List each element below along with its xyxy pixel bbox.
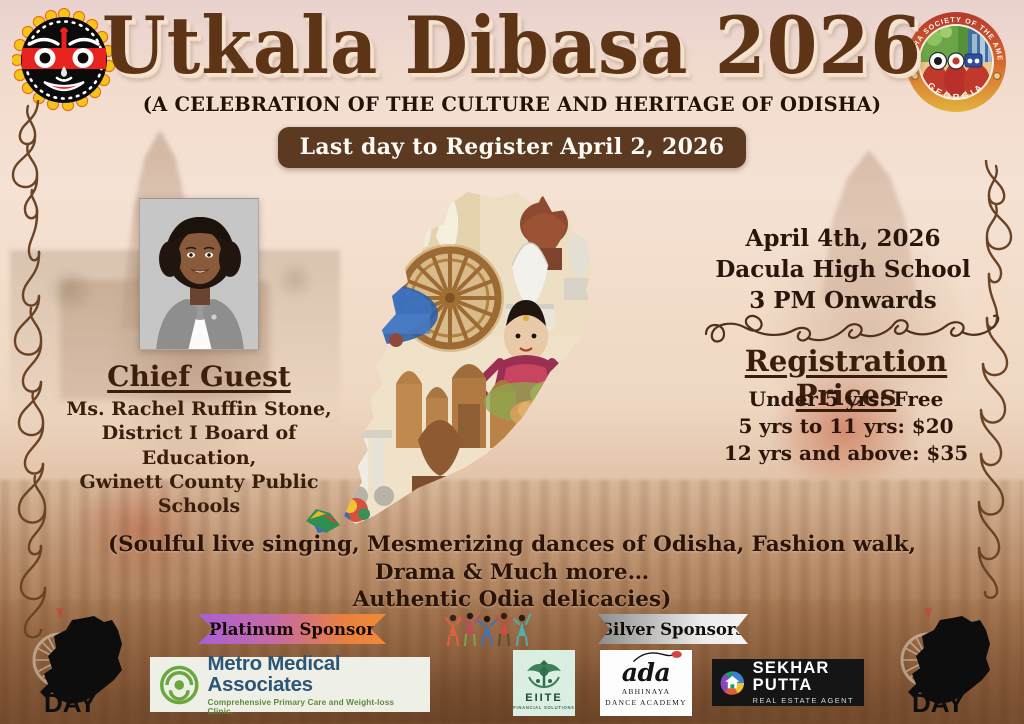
chief-guest-photo [139,198,259,350]
chief-guest-org: Gwinett County Public Schools [54,470,344,519]
silver-sponsors-ribbon: Silver Sponsors [598,614,748,644]
sekhar-putta-house-mark-icon [720,666,745,700]
registration-deadline-banner: Last day to Register April 2, 2026 [278,127,747,168]
odisha-day-logo-left: O D I S HA DAY [26,604,130,716]
metro-medical-mark-icon [160,663,199,707]
metro-medical-name: Metro Medical Associates [208,654,420,695]
ada-flourish-icon [622,651,692,663]
event-poster: THE ODISHA SOCIETY OF THE AMERICAS GEORG… [0,0,1024,724]
chief-guest-role: District I Board of Education, [54,421,344,470]
title-block: Utkala Dibasa 2026 (A CELEBRATION OF THE… [0,12,1024,168]
event-date: April 4th, 2026 [698,224,988,255]
eiite-mark-icon [521,657,567,691]
registration-prices-list: Under 5 yrs: Free 5 yrs to 11 yrs: $20 1… [698,386,994,467]
chief-guest-name: Ms. Rachel Ruffin Stone, [54,397,344,421]
eiite-tagline: FINANCIAL SOLUTIONS [513,705,574,710]
sekhar-putta-name: SEKHAR PUTTA [753,660,856,693]
sponsor-logo-abhinaya-dance-academy: ada ABHINAYA DANCE ACADEMY [600,650,692,716]
sponsor-logo-sekhar-putta: SEKHAR PUTTA REAL ESTATE AGENT [712,659,864,706]
chief-guest-section: Chief Guest Ms. Rachel Ruffin Stone, Dis… [54,198,344,519]
sponsor-logo-eiite: EIITE FINANCIAL SOLUTIONS [513,650,575,716]
odisha-day-logo-right: O D I S HA DAY [894,604,998,716]
highlights-line-2: Drama & Much more… [0,559,1024,587]
price-row: 12 yrs and above: $35 [698,440,994,467]
odisha-day-word: DAY [912,688,965,716]
platinum-sponsor-ribbon: Platinum Sponsor [198,614,386,644]
page-subtitle: (A CELEBRATION OF THE CULTURE AND HERITA… [0,93,1024,116]
metro-medical-tagline: Comprehensive Primary Care and Weight-lo… [208,698,420,715]
ada-mark-wrap: ada [622,660,670,685]
page-title: Utkala Dibasa 2026 [0,9,1024,84]
ada-line-1: ABHINAYA [622,687,671,696]
ada-mark: ada [622,660,670,685]
odisha-map-collage [300,186,630,526]
dancing-people-icon [444,610,536,650]
ada-line-2: DANCE ACADEMY [605,698,687,707]
sekhar-putta-tagline: REAL ESTATE AGENT [753,697,856,704]
odisha-day-word: DAY [44,688,97,716]
highlights-line-1: (Soulful live singing, Mesmerizing dance… [0,531,1024,559]
event-details: April 4th, 2026 Dacula High School 3 PM … [698,224,988,316]
event-time: 3 PM Onwards [698,286,988,317]
chief-guest-heading: Chief Guest [54,360,344,393]
sponsor-logo-metro-medical: Metro Medical Associates Comprehensive P… [150,657,430,712]
price-row: Under 5 yrs: Free [698,386,994,413]
event-venue: Dacula High School [698,255,988,286]
price-row: 5 yrs to 11 yrs: $20 [698,413,994,440]
event-highlights: (Soulful live singing, Mesmerizing dance… [0,531,1024,614]
eiite-name: EIITE [525,692,563,704]
